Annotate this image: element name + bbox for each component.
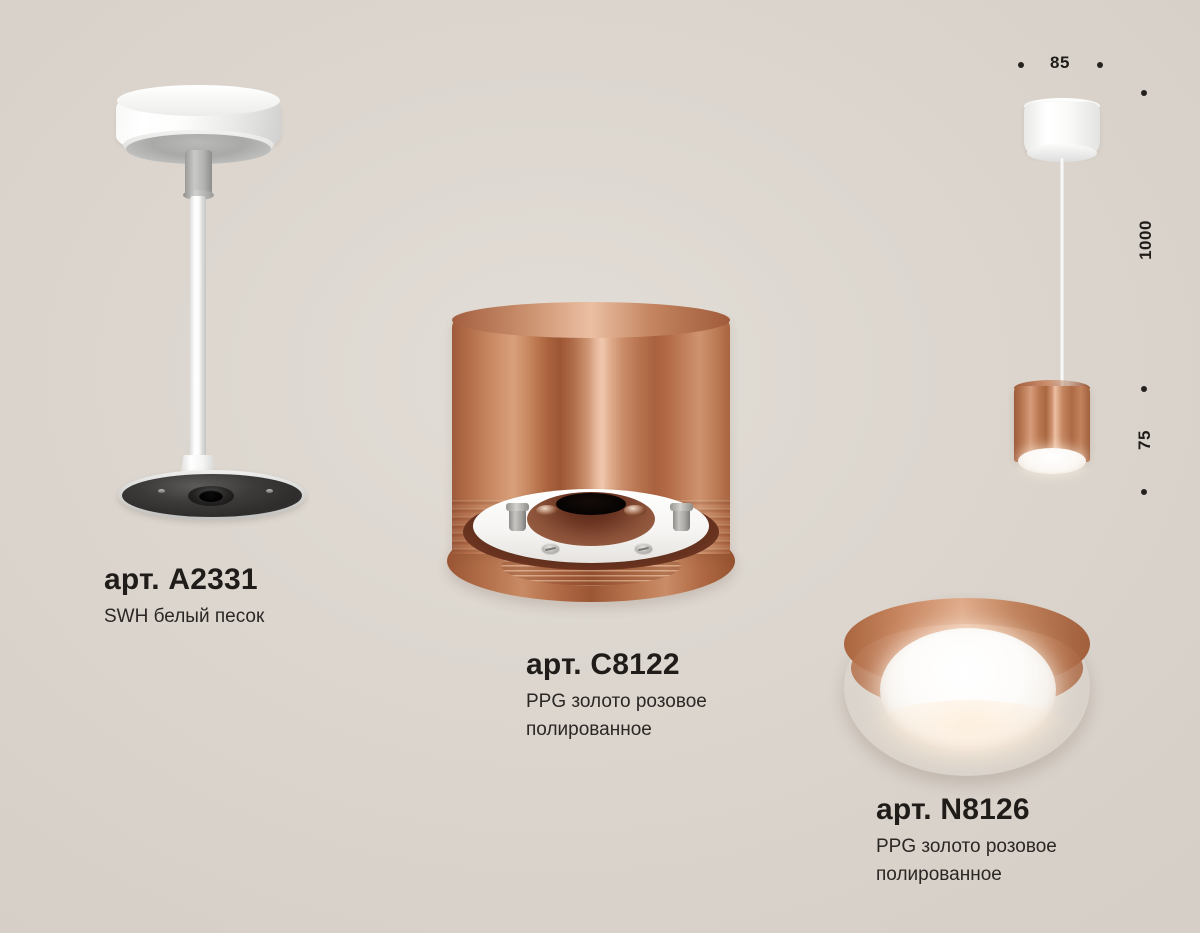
a2331-suspension-rod — [190, 196, 206, 464]
dim-value-85: 85 — [1050, 53, 1070, 73]
label-n8126: арт. N8126 PPG золото розовое полированн… — [876, 793, 1057, 887]
a2331-plate-screw — [266, 489, 273, 493]
n8126-finish-line2: полированное — [876, 862, 1057, 888]
a2331-plate-center-hole — [199, 490, 223, 502]
a2331-finish: SWH белый песок — [104, 604, 264, 630]
n8126-article: арт. N8126 — [876, 793, 1057, 827]
c8122-finish-line2: полированное — [526, 717, 707, 743]
pendant-diffuser — [1018, 448, 1086, 474]
dim-value-75: 75 — [1135, 424, 1155, 456]
dim-dot-85-left — [1018, 62, 1024, 68]
c8122-fixing-screw — [634, 543, 653, 555]
c8122-fixing-screw — [541, 543, 560, 555]
c8122-standoff-head — [670, 503, 693, 511]
c8122-finish-line1: PPG золото розовое — [526, 689, 707, 715]
label-a2331: арт. A2331 SWH белый песок — [104, 563, 264, 630]
c8122-article: арт. C8122 — [526, 648, 707, 682]
c8122-socket-contact — [624, 505, 646, 516]
c8122-standoff-head — [506, 503, 529, 511]
diagram-canvas: арт. A2331 SWH белый песок арт. C8122 PP… — [0, 0, 1200, 933]
dim-dot-1000-top — [1141, 90, 1147, 96]
label-c8122: арт. C8122 PPG золото розовое полированн… — [526, 648, 707, 742]
a2331-plate-screw — [158, 489, 165, 493]
n8126-finish-line1: PPG золото розовое — [876, 834, 1057, 860]
dim-dot-75-bottom — [1141, 489, 1147, 495]
dim-dot-85-right — [1097, 62, 1103, 68]
n8126-diffuser — [880, 628, 1056, 752]
c8122-socket-opening — [556, 493, 626, 515]
c8122-socket-contact — [536, 505, 558, 516]
a2331-article: арт. A2331 — [104, 563, 264, 597]
dim-dot-1000-bottom — [1141, 386, 1147, 392]
dim-value-1000: 1000 — [1136, 220, 1156, 260]
a2331-canopy-top — [117, 85, 280, 116]
c8122-body-top — [452, 302, 730, 338]
pendant-suspension-wire — [1060, 158, 1064, 386]
